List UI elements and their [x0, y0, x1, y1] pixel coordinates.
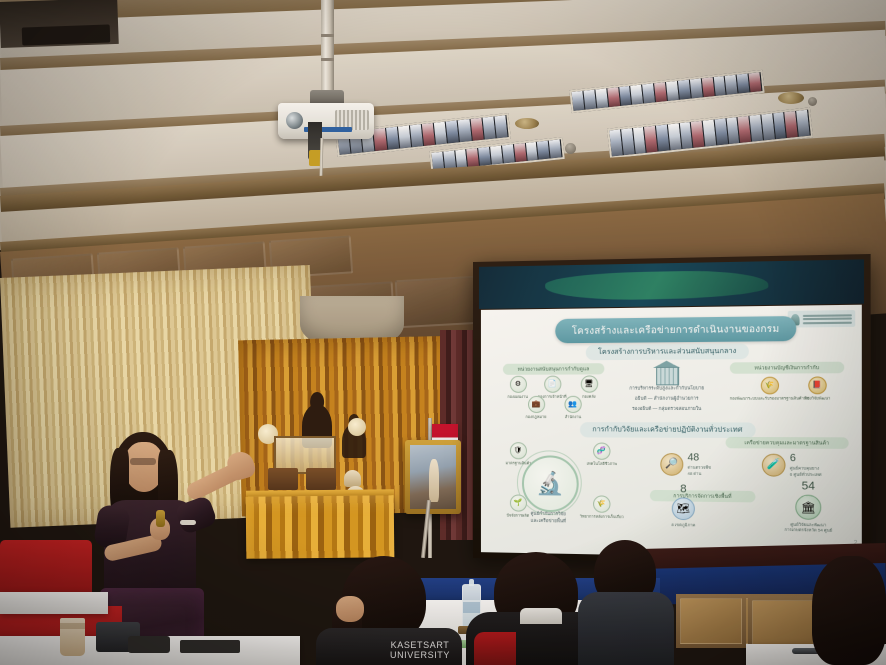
slide-node: 📕 กองวิจัยพัฒนา — [792, 376, 842, 400]
hub-satellite: 🛡 มาตรฐานสินค้า — [495, 442, 541, 466]
wall-cabinet — [676, 594, 746, 648]
group-label-left: หน่วยงานสนับสนุนการกำกับดูแล — [503, 363, 604, 375]
presentation-slide: โครงสร้างและเครือข่ายการดำเนินงานของกรม … — [481, 305, 862, 560]
projection-screen: โครงสร้างและเครือข่ายการดำเนินงานของกรม … — [473, 254, 871, 566]
royal-portrait — [405, 440, 461, 514]
ceiling-downlight — [778, 92, 804, 104]
institution-building-icon — [653, 361, 680, 384]
group-label-network-right: เครือข่ายควบคุมและมาตรฐานสินค้า — [726, 437, 849, 449]
people-icon: 👥 — [564, 396, 581, 413]
center-admin-label: การบริหารระดับสูงและกำกับนโยบาย — [629, 385, 704, 392]
node-caption: กองวิจัยพัฒนา — [804, 396, 830, 401]
slide-title: โครงสร้างและเครือข่ายการดำเนินงานของกรม — [556, 316, 797, 343]
monitor-icon: 🖥 — [580, 375, 597, 392]
stat-value: 54 — [770, 481, 846, 493]
stat-value: 8 — [660, 484, 706, 496]
wall-cabinet — [748, 596, 818, 650]
slide-logo — [788, 310, 856, 328]
projector-pole — [321, 0, 334, 96]
jacket-label: KASETSART UNIVERSITY — [390, 640, 450, 660]
stat-value: 48 — [688, 453, 711, 463]
stat-item: 🧪 6 ศูนย์ควบคุมยาง 6 ศูนย์ทั่วประเทศ — [762, 454, 822, 478]
slide-section-2-heading: การกำกับวิจัยและเครือข่ายปฏิบัติงานทั่วป… — [580, 422, 755, 438]
stat-item: 🔎 48 ด่านตรวจพืช 48 ด่าน — [660, 453, 711, 476]
altar-table-skirt — [246, 495, 395, 559]
audience-jacket — [578, 592, 674, 665]
inspection-icon: 🔎 — [660, 453, 683, 476]
document-icon: 📄 — [544, 376, 561, 393]
stat-caption-1: 8 เขตภูมิภาค — [660, 522, 706, 528]
desk-equipment — [180, 640, 240, 653]
screen-upper-band — [479, 259, 864, 309]
satellite-caption: มาตรฐานสินค้า — [505, 461, 531, 466]
presenter-pointer-device — [156, 510, 165, 527]
slide-node: 🌾 กองพัฒนาระบบและรับรองมาตรฐานสินค้าพืช — [745, 377, 794, 401]
jacket-text: KASETSART UNIVERSITY — [380, 640, 460, 661]
ceiling-speaker-icon — [565, 143, 576, 154]
altar-side-table — [306, 468, 336, 490]
node-caption: กองกฎหมาย — [526, 415, 547, 419]
presenter-glasses-icon — [130, 458, 156, 465]
audience-collar — [520, 608, 562, 624]
briefcase-icon: 💼 — [527, 396, 544, 413]
building-body — [656, 367, 679, 386]
altar-lamp — [348, 418, 366, 436]
harvest-icon: 🌾 — [593, 495, 610, 513]
satellite-caption: เทคโนโลยีชีวภาพ — [586, 461, 616, 466]
satellite-caption: วิทยาการหลังการเก็บเกี่ยว — [579, 514, 623, 519]
portrait-figure — [429, 459, 439, 502]
ceiling-projector — [278, 103, 374, 139]
hub-caption-line-2: และเครือข่ายพื้นที่ — [531, 518, 566, 525]
presenter-wristband — [180, 520, 196, 525]
gear-icon: ⚙ — [509, 376, 526, 393]
logo-text-lines — [803, 312, 852, 325]
audience-head — [812, 556, 886, 665]
satellite-caption: ปัจจัยการผลิต — [507, 513, 530, 518]
group-label-right: หน่วยงานบัญชีเงินการกำกับ — [730, 362, 844, 374]
stat-item: 54 🏛 ศูนย์วิจัยและพัฒนา การเกษตรจังหวัด … — [770, 481, 846, 534]
stat-caption-2: 48 ด่าน — [688, 471, 711, 477]
stat-caption-1: ด่านตรวจพืช — [688, 465, 711, 471]
stat-caption-2: การเกษตรจังหวัด 54 ศูนย์ — [770, 527, 846, 534]
slide-section-1-heading: โครงสร้างการบริหารและส่วนสนับสนุนกลาง — [586, 344, 749, 361]
hub-satellite: 🌱 ปัจจัยการผลิต — [495, 494, 541, 518]
ceiling-downlight — [515, 118, 539, 129]
coffee-cup — [60, 618, 85, 656]
wall-panel — [395, 276, 482, 329]
center-row: รองอธิบดี — กลุ่มตรวจสอบภายใน — [632, 406, 701, 413]
altar-offering — [344, 470, 361, 487]
microphone-base — [128, 636, 170, 653]
region-icon: 🗺 — [672, 497, 695, 520]
plant-shield-icon: 🌾 — [760, 377, 778, 395]
seedling-icon: 🌱 — [509, 494, 526, 511]
book-icon: 📕 — [808, 376, 826, 394]
dna-icon: 🧬 — [593, 443, 610, 460]
stat-value: 6 — [790, 454, 822, 465]
stat-item: 8 🗺 8 เขตภูมิภาค — [660, 484, 706, 528]
audience-hand — [336, 596, 364, 622]
hub-satellite: 🌾 วิทยาการหลังการเก็บเกี่ยว — [578, 495, 625, 519]
shield-icon: 🛡 — [509, 442, 526, 459]
lab-icon: 🧪 — [762, 454, 786, 477]
center-row: อธิบดี — สำนักงานผู้อำนวยการ — [635, 396, 699, 403]
projector-lens-icon — [286, 112, 303, 129]
presentation-room-photo: โครงสร้างและเครือข่ายการดำเนินงานของกรม … — [0, 0, 886, 665]
audience-jacket-accent — [474, 632, 516, 665]
altar-side-table — [268, 468, 298, 490]
hub-satellite: 🧬 เทคโนโลยีชีวภาพ — [578, 442, 625, 466]
slide-node: 👥 สำนักงาน — [549, 396, 596, 419]
stat-caption-1: ศูนย์ควบคุมยาง — [790, 465, 822, 471]
institute-icon: 🏛 — [795, 495, 821, 520]
ceiling-vent-left — [22, 24, 111, 45]
node-caption: สำนักงาน — [564, 415, 580, 419]
ceiling-speaker-icon — [808, 97, 817, 106]
conference-table — [0, 592, 108, 614]
stat-caption-2: 6 ศูนย์ทั่วประเทศ — [790, 472, 822, 478]
